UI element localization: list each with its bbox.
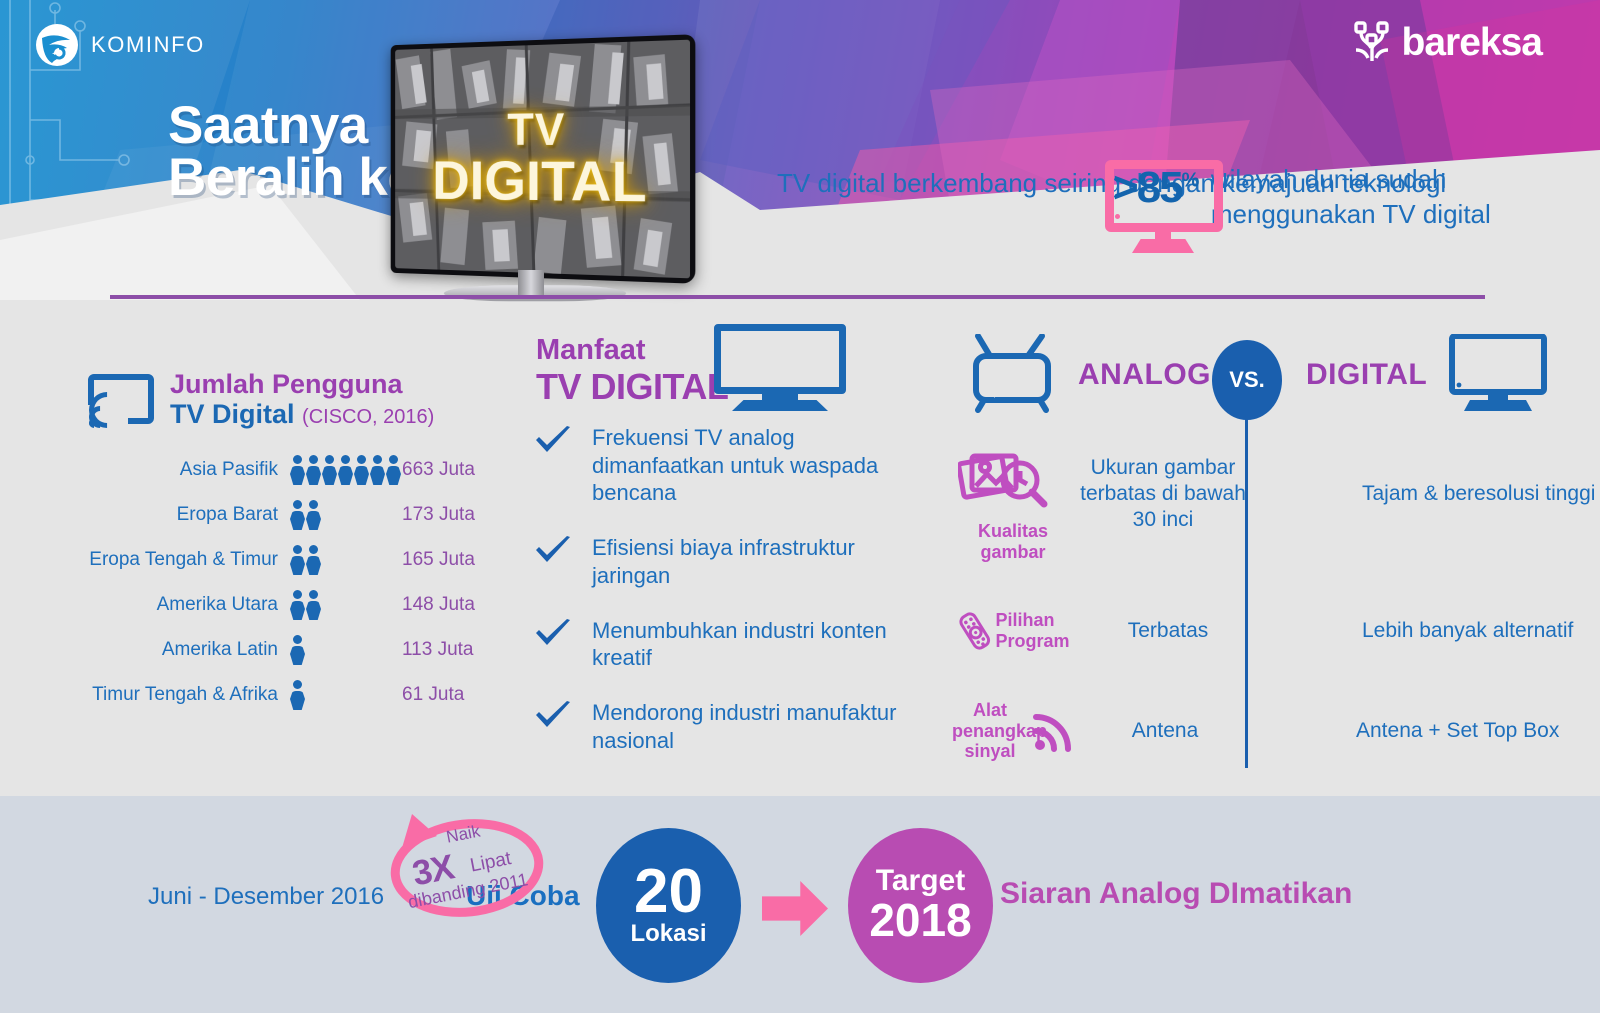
analog-value: Antena (1078, 718, 1252, 744)
header-banner: KOMINFO bareksa Saatnya Beralih ke TV (0, 0, 1600, 300)
kominfo-globe-icon (34, 22, 80, 68)
tv-label-line1: TV (507, 107, 565, 153)
growth-callout: Naik 3X Lipat dibanding 2011 (382, 800, 552, 918)
footer-outcome-text: Siaran Analog DImatikan (1000, 876, 1352, 911)
adoption-percent-value: >85% (1113, 166, 1197, 210)
tv-stand-neck (518, 270, 544, 296)
person-icon (354, 455, 369, 485)
target-label: Target (876, 866, 965, 896)
bareksa-sprout-icon (1352, 20, 1392, 64)
monitor-icon (714, 324, 846, 400)
digital-value: Lebih banyak alternatif (1362, 618, 1600, 644)
benefit-text: Menumbuhkan industri konten kreatif (592, 617, 904, 672)
person-icon (290, 635, 305, 665)
region-value: 663 Juta (402, 459, 475, 481)
check-icon (534, 426, 572, 456)
benefits-title-line2: TV DIGITAL (536, 366, 728, 408)
criterion-label: Pilihan Program (995, 610, 1078, 651)
arrow-right-icon (762, 881, 828, 936)
retro-tv-icon (966, 334, 1058, 414)
tv-screen-label: TV DIGITAL (395, 40, 690, 279)
users-title-line1: Jumlah Pengguna (170, 370, 434, 400)
comparison-header: ANALOG VS. DIGITAL (958, 328, 1558, 420)
region-label: Eropa Tengah & Timur (88, 549, 290, 571)
footer-locations-badge: 20 Lokasi (596, 828, 741, 983)
person-icon (386, 455, 401, 485)
list-item: Menumbuhkan industri konten kreatif (534, 617, 904, 672)
people-pictogram (290, 545, 402, 575)
people-pictogram (290, 590, 402, 620)
timeline-footer: Juni - Desember 2016 Uji Coba 20 Lokasi … (0, 796, 1600, 1013)
list-item: Asia Pasifik 663 Juta (88, 450, 518, 490)
region-value: 148 Juta (402, 594, 475, 616)
header-divider (110, 295, 1485, 299)
person-icon (306, 500, 321, 530)
analog-column-label: ANALOG (1078, 358, 1211, 392)
cast-screen-icon (88, 374, 154, 430)
benefit-text: Efisiensi biaya infrastruktur jaringan (592, 534, 904, 589)
benefits-panel-header: Manfaat TV DIGITAL (534, 332, 904, 420)
digital-column-label: DIGITAL (1306, 358, 1427, 392)
person-icon (290, 680, 305, 710)
analog-value: Ukuran gambar terbatas di bawah 30 inci (1068, 455, 1258, 534)
locations-number: 20 (634, 863, 703, 920)
remote-control-icon: Pilihan Program (958, 596, 1078, 666)
users-panel-header: Jumlah Pengguna TV Digital (CISCO, 2016) (88, 370, 518, 430)
world-adoption-stat: >85% wilayah dunia sudah menggunakan TV … (1105, 160, 1600, 255)
adoption-stat-text: wilayah dunia sudah menggunakan TV digit… (1211, 160, 1600, 231)
table-row: Alat penangkap sinyal Antena Antena + Se… (952, 696, 1600, 766)
list-item: Amerika Latin 113 Juta (88, 630, 518, 670)
tv-label-line2: DIGITAL (432, 152, 646, 213)
digital-value: Tajam & beresolusi tinggi (1362, 481, 1600, 507)
vs-badge: VS. (1212, 340, 1282, 420)
benefits-title-line1: Manfaat (536, 334, 646, 367)
signal-waves-icon: Alat penangkap sinyal (952, 696, 1078, 766)
person-icon (290, 590, 305, 620)
region-label: Asia Pasifik (88, 459, 290, 481)
criterion-label: Kualitas gambar (958, 521, 1068, 562)
person-icon (290, 455, 305, 485)
photo-magnifier-icon: Kualitas gambar (958, 448, 1068, 540)
check-icon (534, 701, 572, 731)
footer-target-badge: Target 2018 (848, 828, 993, 983)
person-icon (306, 455, 321, 485)
people-pictogram (290, 635, 402, 665)
region-value: 165 Juta (402, 549, 475, 571)
check-icon (534, 536, 572, 566)
benefits-panel: Manfaat TV DIGITAL Frekuensi TV analog d… (534, 332, 904, 781)
person-icon (290, 500, 305, 530)
users-title-line2: TV Digital (170, 399, 295, 429)
person-icon (306, 545, 321, 575)
list-item: Efisiensi biaya infrastruktur jaringan (534, 534, 904, 589)
vs-label: VS. (1229, 367, 1264, 393)
person-icon (290, 545, 305, 575)
region-label: Eropa Barat (88, 504, 290, 526)
check-icon (534, 619, 572, 649)
list-item: Amerika Utara 148 Juta (88, 585, 518, 625)
users-panel: Jumlah Pengguna TV Digital (CISCO, 2016)… (88, 370, 518, 720)
table-row: Pilihan Program Terbatas Lebih banyak al… (958, 596, 1600, 666)
locations-label: Lokasi (630, 920, 706, 948)
tv-screen: TV DIGITAL (395, 40, 690, 279)
region-label: Timur Tengah & Afrika (88, 684, 290, 706)
table-row: Kualitas gambar Ukuran gambar terbatas d… (958, 448, 1600, 540)
target-year: 2018 (869, 896, 971, 944)
flat-monitor-icon (1448, 334, 1548, 416)
main-content: Jumlah Pengguna TV Digital (CISCO, 2016)… (0, 300, 1600, 796)
list-item: Frekuensi TV analog dimanfaatkan untuk w… (534, 424, 904, 507)
hero-television: TV DIGITAL (366, 18, 706, 318)
tv-bezel: TV DIGITAL (391, 34, 696, 284)
bareksa-wordmark: bareksa (1402, 23, 1542, 62)
person-icon (338, 455, 353, 485)
monitor-icon: >85% (1105, 160, 1193, 255)
kominfo-logo: KOMINFO (34, 22, 205, 68)
person-icon (306, 590, 321, 620)
benefits-list: Frekuensi TV analog dimanfaatkan untuk w… (534, 424, 904, 754)
person-icon (370, 455, 385, 485)
person-icon (322, 455, 337, 485)
analog-value: Terbatas (1078, 618, 1258, 644)
digital-value: Antena + Set Top Box (1356, 718, 1600, 744)
footer-date-range: Juni - Desember 2016 (148, 883, 384, 911)
people-pictogram (290, 455, 402, 485)
region-value: 61 Juta (402, 684, 464, 706)
comparison-panel: ANALOG VS. DIGITAL (958, 328, 1558, 420)
region-value: 113 Juta (402, 639, 473, 661)
percent-symbol: % (1182, 169, 1198, 191)
region-label: Amerika Utara (88, 594, 290, 616)
users-stat-list: Asia Pasifik 663 Juta Eropa Barat (88, 450, 518, 715)
region-value: 173 Juta (402, 504, 475, 526)
criterion-label: Alat penangkap sinyal (952, 700, 1028, 762)
list-item: Mendorong industri manufaktur nasional (534, 699, 904, 754)
bareksa-logo: bareksa (1352, 20, 1542, 64)
users-panel-title: Jumlah Pengguna TV Digital (CISCO, 2016) (170, 370, 434, 429)
people-pictogram (290, 500, 402, 530)
users-source: (CISCO, 2016) (302, 406, 434, 428)
benefit-text: Frekuensi TV analog dimanfaatkan untuk w… (592, 424, 904, 507)
kominfo-wordmark: KOMINFO (91, 32, 205, 58)
list-item: Eropa Tengah & Timur 165 Juta (88, 540, 518, 580)
list-item: Timur Tengah & Afrika 61 Juta (88, 675, 518, 715)
people-pictogram (290, 680, 402, 710)
infographic-canvas: KOMINFO bareksa Saatnya Beralih ke TV (0, 0, 1600, 1013)
region-label: Amerika Latin (88, 639, 290, 661)
list-item: Eropa Barat 173 Juta (88, 495, 518, 535)
benefit-text: Mendorong industri manufaktur nasional (592, 699, 904, 754)
